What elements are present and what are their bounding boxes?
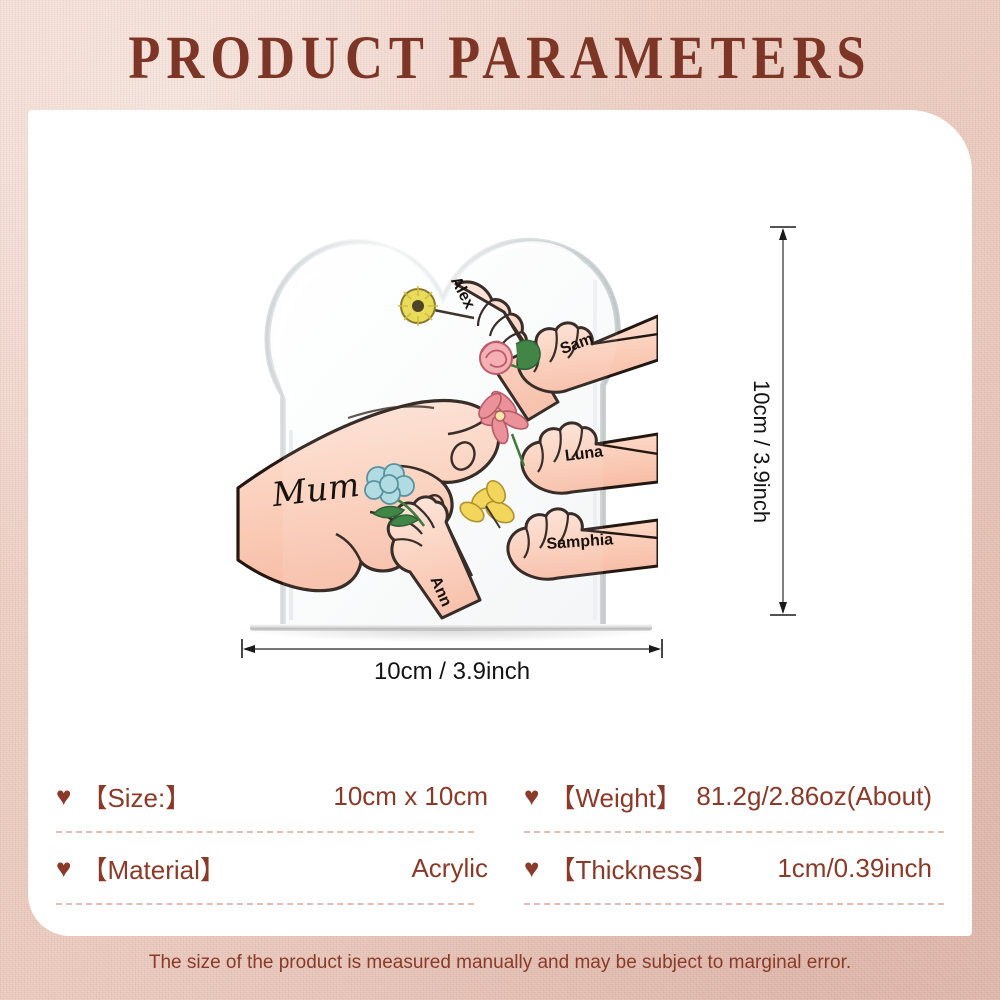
param-row-material: ♥ 【Material】 Acrylic [56,837,500,909]
horizontal-dimension-label: 10cm / 3.9inch [240,658,664,686]
row-divider [56,903,474,905]
param-value-weight: 81.2g/2.86oz(About) [682,781,932,812]
heart-icon: ♥ [524,855,539,881]
row-divider [524,903,944,905]
parameters-table: ♥ 【Size:】 10cm x 10cm ♥ 【Weight】 81.2g/2… [56,765,944,909]
horizontal-dimension-line [240,638,664,660]
measurement-disclaimer: The size of the product is measured manu… [0,952,1000,974]
page-title: PRODUCT PARAMETERS [70,28,930,89]
param-row-thickness: ♥ 【Thickness】 1cm/0.39inch [500,837,944,909]
heart-acrylic-plaque: Mum Alex Sam Luna Samphia Ann [228,220,658,640]
product-illustration-area: Mum Alex Sam Luna Samphia Ann 10cm / 3.9… [28,110,972,690]
heart-icon: ♥ [524,783,539,809]
param-row-weight: ♥ 【Weight】 81.2g/2.86oz(About) [500,765,944,837]
param-value-size: 10cm x 10cm [191,781,488,812]
param-label-material: 【Material】 [81,850,225,887]
param-row-size: ♥ 【Size:】 10cm x 10cm [56,765,500,837]
param-value-thickness: 1cm/0.39inch [718,853,932,884]
row-divider [56,831,474,833]
heart-icon: ♥ [56,855,71,881]
heart-icon: ♥ [56,783,71,809]
param-label-thickness: 【Thickness】 [549,850,718,887]
product-card: Mum Alex Sam Luna Samphia Ann 10cm / 3.9… [28,110,972,936]
param-label-weight: 【Weight】 [549,778,681,815]
param-value-material: Acrylic [226,853,488,884]
row-divider [524,831,944,833]
param-label-size: 【Size:】 [81,778,191,815]
vertical-dimension-label: 10cm / 3.9inch [748,380,774,523]
